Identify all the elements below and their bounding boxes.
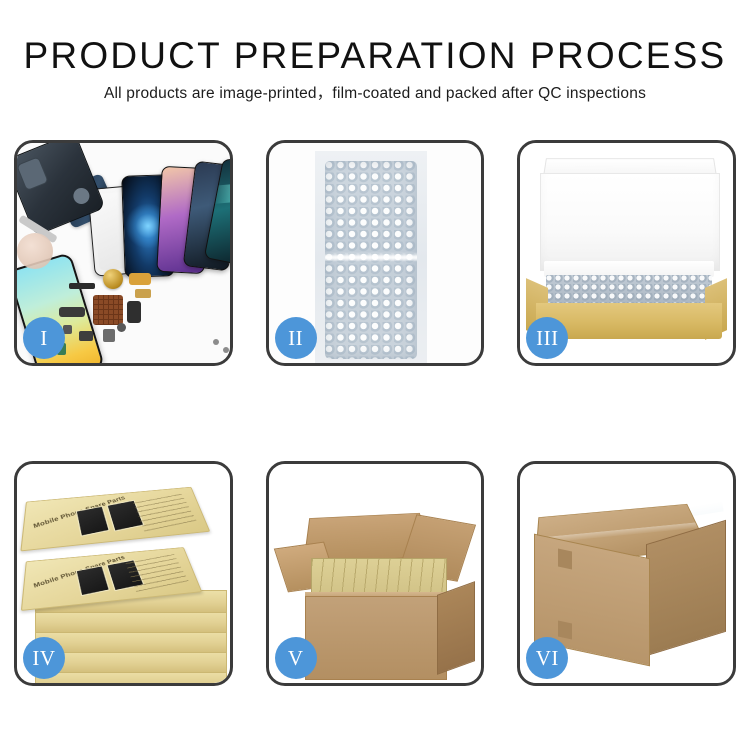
step-badge-ii: II <box>275 317 317 359</box>
step-panel-iv: Mobile Phone Spare Parts Mobile Phone Sp… <box>14 461 233 687</box>
box-slab-3 <box>35 630 227 653</box>
screw-1 <box>213 339 219 345</box>
carton-right-face <box>646 519 726 655</box>
step-panel-i: I <box>14 140 233 366</box>
step-badge-v: V <box>275 637 317 679</box>
earpiece-part <box>69 283 95 289</box>
sealed-shipping-carton <box>534 498 730 666</box>
step-badge-iv: IV <box>23 637 65 679</box>
flex-cable-part-2 <box>135 289 151 298</box>
carton-tab-upper <box>558 548 572 569</box>
step-panel-vi: VI <box>517 461 736 687</box>
box-lid-white <box>540 173 720 271</box>
step-badge-iii: III <box>526 317 568 359</box>
box-window-1 <box>76 565 110 596</box>
retail-box-lid-lower: Mobile Phone Spare Parts <box>20 486 210 551</box>
page-subtitle: All products are image-printed，film-coat… <box>0 84 750 104</box>
page-title: PRODUCT PREPARATION PROCESS <box>0 34 750 78</box>
carton-side-face <box>437 581 475 675</box>
product-preparation-infographic: PRODUCT PREPARATION PROCESS All products… <box>0 0 750 750</box>
screw-2 <box>223 347 229 353</box>
box-spec-lines <box>125 553 188 591</box>
bubble-wrapped-contents <box>546 275 712 305</box>
box-spec-lines <box>133 493 197 531</box>
step-badge-i: I <box>23 317 65 359</box>
mesh-component <box>93 295 123 325</box>
speaker-part <box>103 269 123 289</box>
camera-module-2 <box>127 301 141 323</box>
carton-tab-lower <box>558 620 572 639</box>
small-part-3 <box>79 331 93 341</box>
box-window-1 <box>76 505 110 536</box>
small-part-6 <box>117 323 126 332</box>
phone-screen-fan <box>89 161 230 281</box>
carton-front-face <box>305 596 447 680</box>
step-panel-ii: II <box>266 140 485 366</box>
step-panel-v: V <box>266 461 485 687</box>
camera-module <box>59 307 85 317</box>
flex-cable-part <box>129 273 151 285</box>
hand <box>17 233 53 269</box>
step-panel-iii: III <box>517 140 736 366</box>
small-part-4 <box>103 329 115 342</box>
pouch-seam <box>325 255 417 261</box>
header: PRODUCT PREPARATION PROCESS All products… <box>0 34 750 104</box>
box-slab-2 <box>35 610 227 633</box>
process-steps-grid: I II III <box>14 140 736 686</box>
